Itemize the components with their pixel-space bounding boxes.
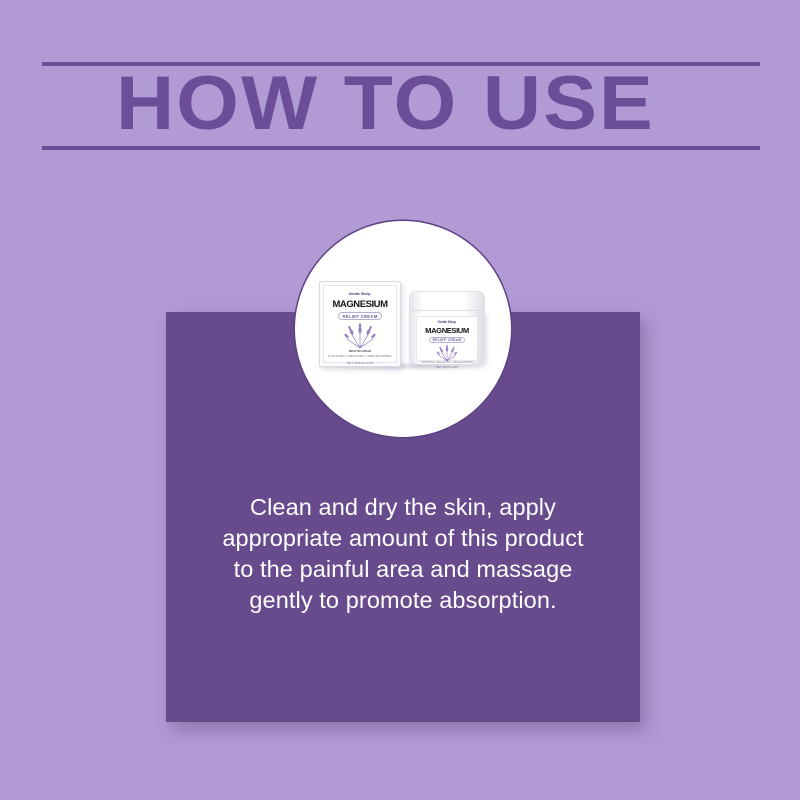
page-title: HOW TO USE (116, 62, 763, 146)
jar-brand-mark: Gentle Sleep (438, 320, 456, 324)
carton-label: Gentle Sleep MAGNESIUM RELIEF CREAM (323, 285, 397, 363)
jar-net-weight: NET 60G/2.12OZ (436, 366, 458, 369)
carton-product-subtitle: RELIEF CREAM (338, 312, 381, 320)
lavender-sprig-icon (434, 344, 460, 361)
carton-brand-mark: Gentle Sleep (349, 291, 371, 296)
carton-fineprint-secondary: SOOTHING | RELAXING | REPLENISHING (328, 354, 392, 359)
product-jar: Gentle Sleep MAGNESIUM RELIEF CREAM (409, 291, 483, 363)
carton-net-weight: NET 60G/2.12OZ (347, 361, 374, 365)
header-block: HOW TO USE (42, 58, 760, 150)
jar-label: Gentle Sleep MAGNESIUM RELIEF CREAM (416, 316, 478, 361)
product-image-circle: Gentle Sleep MAGNESIUM RELIEF CREAM (295, 221, 511, 437)
poster-canvas: HOW TO USE Clean and dry the skin, apply… (0, 0, 800, 800)
instruction-text: Clean and dry the skin, apply appropriat… (216, 492, 590, 616)
header-bottom-rule (42, 146, 760, 150)
jar-fineprint: SOOTHING | RELAXING | REPLENISHING (421, 361, 473, 364)
carton-product-name: MAGNESIUM (332, 299, 387, 310)
jar-product-name: MAGNESIUM (425, 326, 469, 335)
product-carton: Gentle Sleep MAGNESIUM RELIEF CREAM (319, 281, 401, 367)
jar-product-subtitle: RELIEF CREAM (429, 337, 465, 344)
product-photo: Gentle Sleep MAGNESIUM RELIEF CREAM (295, 221, 511, 437)
lavender-sprig-icon (340, 322, 380, 348)
